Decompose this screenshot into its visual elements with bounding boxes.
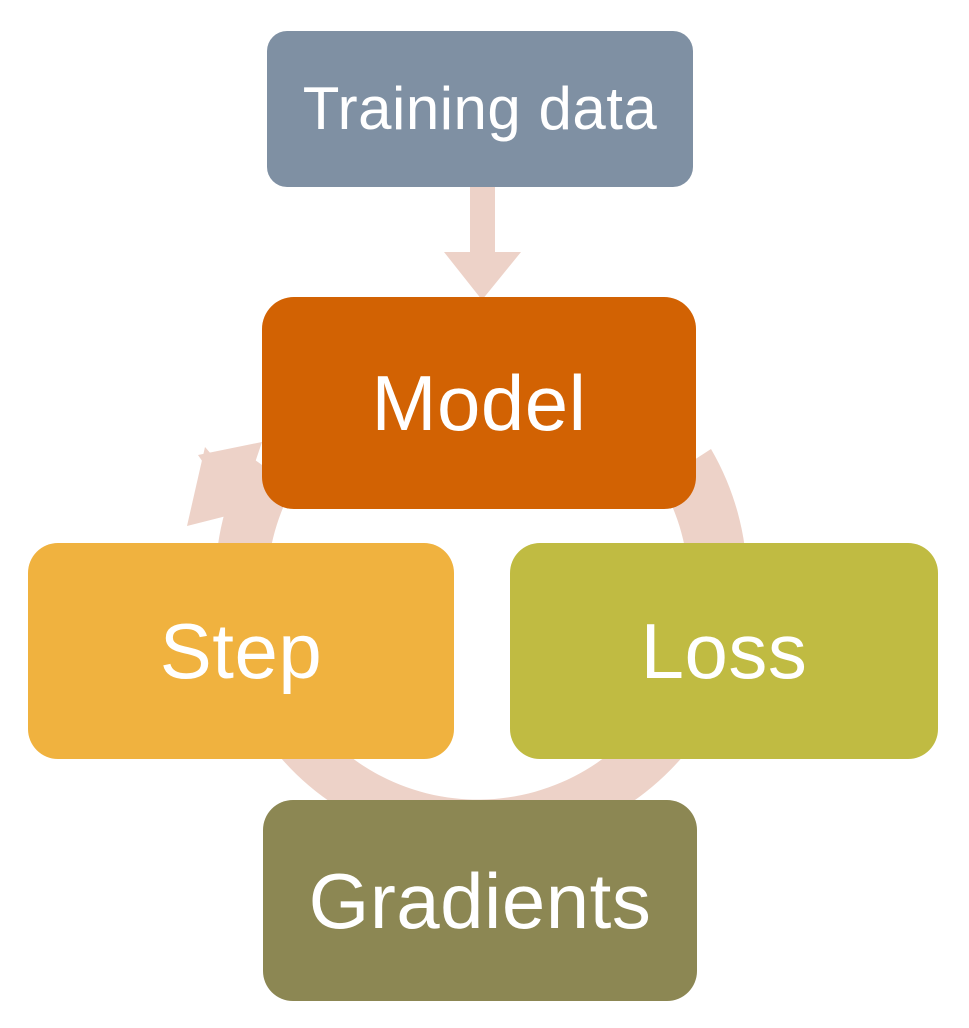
node-loss-label: Loss [641, 612, 808, 690]
training-loop-diagram: Training data Model Step Loss Gradients [0, 0, 969, 1028]
node-loss[interactable]: Loss [510, 543, 938, 759]
feed-arrow-icon [444, 186, 521, 300]
node-step-label: Step [160, 612, 322, 690]
node-training-data[interactable]: Training data [267, 31, 693, 187]
node-step[interactable]: Step [28, 543, 454, 759]
node-gradients[interactable]: Gradients [263, 800, 697, 1001]
node-model[interactable]: Model [262, 297, 696, 509]
node-training-data-label: Training data [303, 79, 658, 139]
node-model-label: Model [372, 364, 587, 442]
node-gradients-label: Gradients [309, 862, 652, 940]
